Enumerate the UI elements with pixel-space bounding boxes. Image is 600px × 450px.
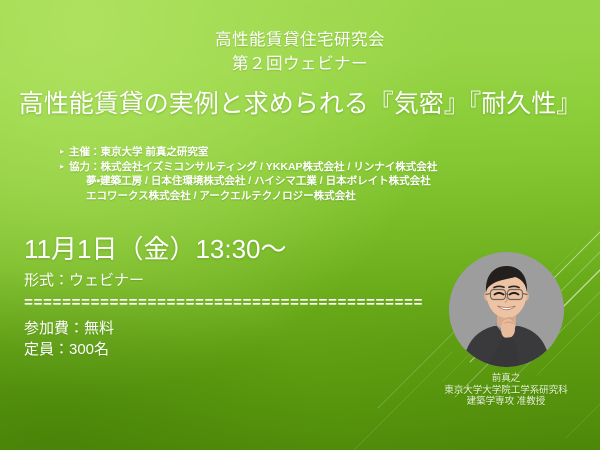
event-details-block: 11月1日（金）13:30〜 形式：ウェビナー ================… (24, 232, 424, 360)
cooperation-label: 協力：株式会社イズミコンサルティング / YKKAP株式会社 / リンナイ株式会… (69, 160, 560, 175)
cooperation-line-3: エコワークス株式会社 / アークエルテクノロジー株式会社 (60, 189, 560, 204)
webinar-announcement-slide: 高性能賃貸住宅研究会 第２回ウェビナー 高性能賃貸の実例と求められる『気密』『耐… (0, 0, 600, 450)
credits-block: ▸ 主催：東京大学 前真之研究室 ▸ 協力：株式会社イズミコンサルティング / … (60, 145, 560, 203)
speaker-caption: 前真之 東京大学大学院工学系研究科 建築学専攻 准教授 (424, 373, 588, 408)
header-block: 高性能賃貸住宅研究会 第２回ウェビナー 高性能賃貸の実例と求められる『気密』『耐… (0, 28, 600, 120)
speaker-affiliation-line-1: 東京大学大学院工学系研究科 (424, 385, 588, 397)
host-row: ▸ 主催：東京大学 前真之研究室 (60, 145, 560, 160)
triangle-bullet-icon: ▸ (60, 160, 69, 175)
event-fee: 参加費：無料 (24, 318, 424, 339)
host-label: 主催：東京大学 前真之研究室 (69, 145, 560, 160)
speaker-name: 前真之 (424, 373, 588, 385)
event-date-time: 11月1日（金）13:30〜 (24, 232, 424, 266)
triangle-bullet-icon: ▸ (60, 145, 69, 160)
event-format: 形式：ウェビナー (24, 270, 424, 291)
event-capacity: 定員：300名 (24, 339, 424, 360)
speaker-block: 前真之 東京大学大学院工学系研究科 建築学専攻 准教授 (424, 252, 588, 408)
speaker-affiliation-line-2: 建築学専攻 准教授 (424, 396, 588, 408)
cooperation-row: ▸ 協力：株式会社イズミコンサルティング / YKKAP株式会社 / リンナイ株… (60, 160, 560, 175)
portrait-illustration (449, 252, 564, 367)
speaker-photo (449, 252, 564, 367)
cooperation-line-2: 夢・建築工房 / 日本住環境株式会社 / ハイシマ工業 / 日本ボレイト株式会社 (60, 174, 560, 189)
dashed-divider: ========================================… (24, 296, 424, 312)
page-title: 高性能賃貸の実例と求められる『気密』『耐久性』 (0, 88, 600, 120)
organization-line: 高性能賃貸住宅研究会 (0, 28, 600, 52)
session-line: 第２回ウェビナー (0, 52, 600, 76)
